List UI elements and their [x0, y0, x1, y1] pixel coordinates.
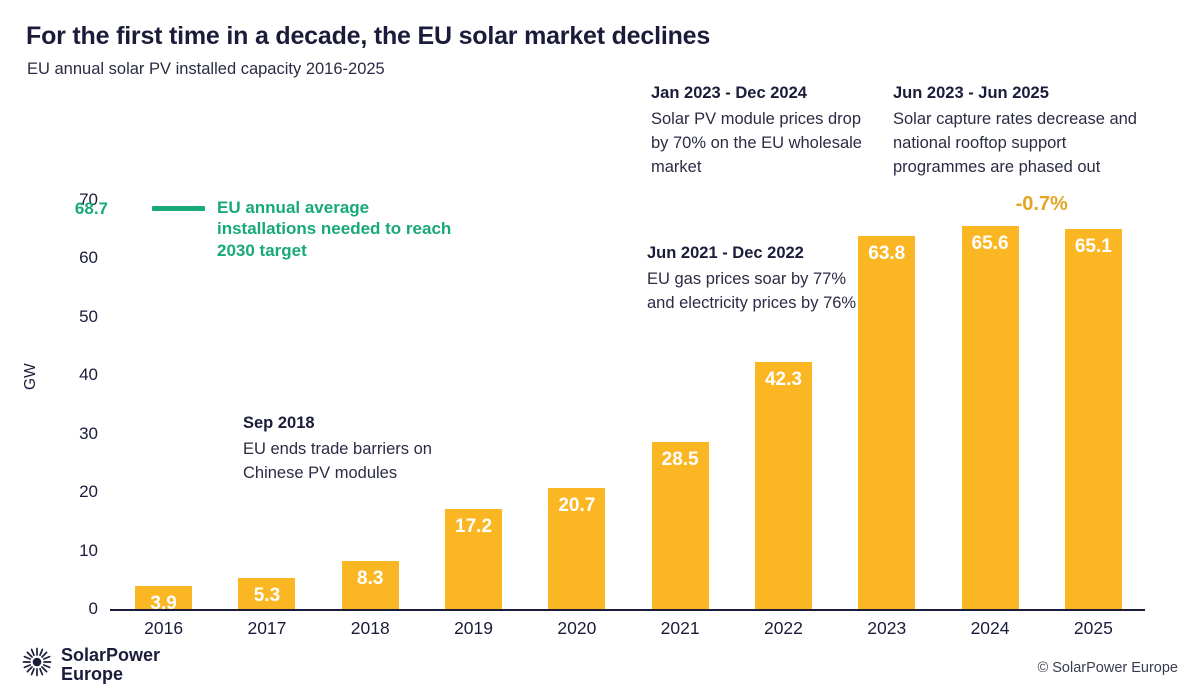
y-axis-tick-label: 60 [28, 248, 98, 268]
x-axis-label-2022: 2022 [728, 618, 838, 639]
annotation-gas-prices: Jun 2021 - Dec 2022 EU gas prices soar b… [647, 244, 857, 316]
x-axis-label-2020: 2020 [522, 618, 632, 639]
annotation-heading: Jun 2023 - Jun 2025 [893, 84, 1155, 103]
bar-value-label: 65.1 [1038, 236, 1148, 258]
target-value-label: 68.7 [42, 199, 108, 219]
brand-logo-line1: SolarPower [61, 645, 160, 665]
y-axis-tick-label: 50 [28, 307, 98, 327]
x-axis-label-2024: 2024 [935, 618, 1045, 639]
annotation-capture-rates: Jun 2023 - Jun 2025 Solar capture rates … [893, 84, 1155, 180]
brand-logo-line2: Europe [61, 664, 123, 684]
x-axis-label-2023: 2023 [832, 618, 942, 639]
x-axis-line [110, 609, 1145, 611]
annotation-body: Solar capture rates decrease and nationa… [893, 108, 1155, 180]
annotation-body: EU ends trade barriers on Chinese PV mod… [243, 438, 473, 486]
brand-logo: SolarPower Europe [22, 646, 160, 684]
bar-value-label: 17.2 [419, 516, 529, 538]
annotation-body: EU gas prices soar by 77% and electricit… [647, 268, 857, 316]
y-axis-tick-label: 30 [28, 424, 98, 444]
bar-value-label: 20.7 [522, 495, 632, 517]
target-legend-text: EU annual average installations needed t… [217, 197, 467, 262]
brand-logo-text: SolarPower Europe [61, 646, 160, 684]
bar-value-label: 65.6 [935, 233, 1045, 255]
bar-value-label: 28.5 [625, 449, 735, 471]
y-axis-tick-label: 40 [28, 365, 98, 385]
bar-2025[interactable] [1065, 229, 1122, 609]
bar-2024[interactable] [962, 226, 1019, 609]
bar-value-label: 42.3 [728, 369, 838, 391]
copyright-notice: © SolarPower Europe [1038, 660, 1178, 676]
y-axis-tick-label: 20 [28, 482, 98, 502]
x-axis-label-2021: 2021 [625, 618, 735, 639]
delta-annotation-label: -0.7% [998, 193, 1086, 216]
bar-value-label: 5.3 [212, 585, 322, 607]
bar-value-label: 3.9 [109, 593, 219, 615]
annotation-module-prices: Jan 2023 - Dec 2024 Solar PV module pric… [651, 84, 879, 180]
annotation-heading: Jan 2023 - Dec 2024 [651, 84, 879, 103]
bar-2023[interactable] [858, 236, 915, 609]
annotation-heading: Jun 2021 - Dec 2022 [647, 244, 857, 263]
chart-container: For the first time in a decade, the EU s… [0, 0, 1200, 700]
bar-value-label: 8.3 [315, 568, 425, 590]
y-axis-tick-label: 0 [28, 599, 98, 619]
annotation-trade-barrier: Sep 2018 EU ends trade barriers on Chine… [243, 414, 473, 486]
x-axis-label-2017: 2017 [212, 618, 322, 639]
x-axis-label-2025: 2025 [1038, 618, 1148, 639]
x-axis-label-2016: 2016 [109, 618, 219, 639]
y-axis-tick-label: 10 [28, 541, 98, 561]
bar-2022[interactable] [755, 362, 812, 609]
x-axis-label-2019: 2019 [419, 618, 529, 639]
annotation-body: Solar PV module prices drop by 70% on th… [651, 108, 879, 180]
target-line-swatch [152, 206, 205, 211]
y-axis-ticks: 010203040506070 [20, 0, 98, 700]
sun-icon [22, 647, 52, 682]
annotation-heading: Sep 2018 [243, 414, 473, 433]
x-axis-label-2018: 2018 [315, 618, 425, 639]
